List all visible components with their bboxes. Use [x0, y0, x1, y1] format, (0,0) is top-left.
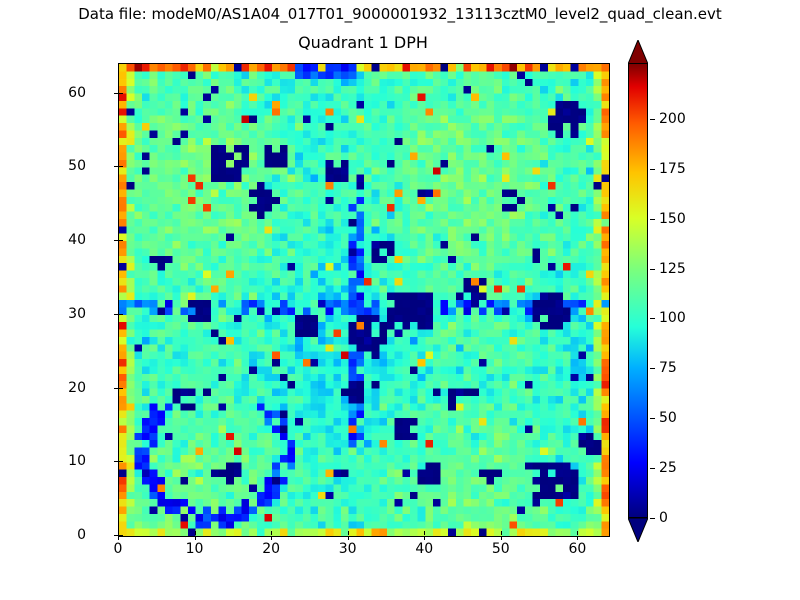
colorbar-tick-mark	[650, 518, 655, 519]
colorbar-tick-mark	[650, 368, 655, 369]
x-tick-mark	[271, 536, 272, 540]
x-tick-mark	[577, 536, 578, 540]
colorbar-tick-label: 75	[659, 360, 677, 376]
y-tick-mark-inner	[119, 166, 123, 167]
colorbar-tick-label: 100	[659, 310, 686, 326]
colorbar-tick-mark	[650, 169, 655, 170]
x-tick-mark	[348, 536, 349, 540]
colorbar-tick-label: 125	[659, 261, 686, 277]
x-tick-label: 0	[114, 541, 123, 557]
y-tick-mark	[114, 388, 118, 389]
y-tick-label: 0	[77, 527, 86, 543]
y-tick-mark	[114, 461, 118, 462]
y-tick-mark	[114, 314, 118, 315]
x-tick-label: 50	[492, 541, 510, 557]
colorbar-tick-mark	[650, 468, 655, 469]
x-tick-label: 60	[568, 541, 586, 557]
colorbar-tick-label: 150	[659, 211, 686, 227]
y-tick-mark-inner	[119, 240, 123, 241]
colorbar-tick-mark	[650, 269, 655, 270]
y-tick-mark	[114, 240, 118, 241]
x-tick-mark	[118, 536, 119, 540]
y-tick-mark-inner	[119, 314, 123, 315]
x-tick-mark-inner	[577, 531, 578, 535]
x-tick-mark	[501, 536, 502, 540]
colorbar-tick-label: 25	[659, 460, 677, 476]
x-tick-mark-inner	[348, 531, 349, 535]
y-tick-mark	[114, 535, 118, 536]
data-file-suptitle: Data file: modeM0/AS1A04_017T01_90000019…	[0, 5, 800, 23]
x-tick-label: 10	[186, 541, 204, 557]
colorbar-tick-mark	[650, 418, 655, 419]
colorbar-tick-label: 0	[659, 510, 668, 526]
y-tick-label: 40	[68, 232, 86, 248]
colorbar-gradient-bar	[628, 63, 648, 518]
colorbar-tick-label: 200	[659, 111, 686, 127]
y-tick-label: 20	[68, 380, 86, 396]
colorbar: 0255075100125150175200	[628, 40, 788, 550]
y-tick-label: 50	[68, 158, 86, 174]
matplotlib-figure: Data file: modeM0/AS1A04_017T01_90000019…	[0, 0, 800, 600]
x-tick-mark-inner	[271, 531, 272, 535]
y-tick-mark	[114, 166, 118, 167]
heatmap-axes	[118, 63, 610, 537]
y-tick-label: 60	[68, 85, 86, 101]
colorbar-extend-up-arrow-icon	[628, 40, 648, 64]
y-tick-mark-inner	[119, 388, 123, 389]
colorbar-tick-mark	[650, 318, 655, 319]
x-tick-label: 30	[339, 541, 357, 557]
dph-heatmap-image	[119, 64, 609, 536]
colorbar-tick-label: 175	[659, 161, 686, 177]
y-tick-label: 30	[68, 306, 86, 322]
colorbar-tick-mark	[650, 219, 655, 220]
y-tick-label: 10	[68, 453, 86, 469]
x-tick-mark-inner	[501, 531, 502, 535]
x-tick-mark-inner	[195, 531, 196, 535]
colorbar-extend-down-arrow-icon	[628, 518, 648, 542]
page-title: Quadrant 1 DPH	[118, 33, 608, 52]
x-tick-label: 40	[415, 541, 433, 557]
x-tick-mark	[424, 536, 425, 540]
colorbar-tick-label: 50	[659, 410, 677, 426]
y-tick-mark-inner	[119, 461, 123, 462]
x-tick-label: 20	[262, 541, 280, 557]
x-tick-mark	[195, 536, 196, 540]
y-tick-mark	[114, 93, 118, 94]
y-tick-mark-inner	[119, 93, 123, 94]
colorbar-tick-mark	[650, 119, 655, 120]
x-tick-mark-inner	[424, 531, 425, 535]
y-tick-mark-inner	[119, 535, 123, 536]
